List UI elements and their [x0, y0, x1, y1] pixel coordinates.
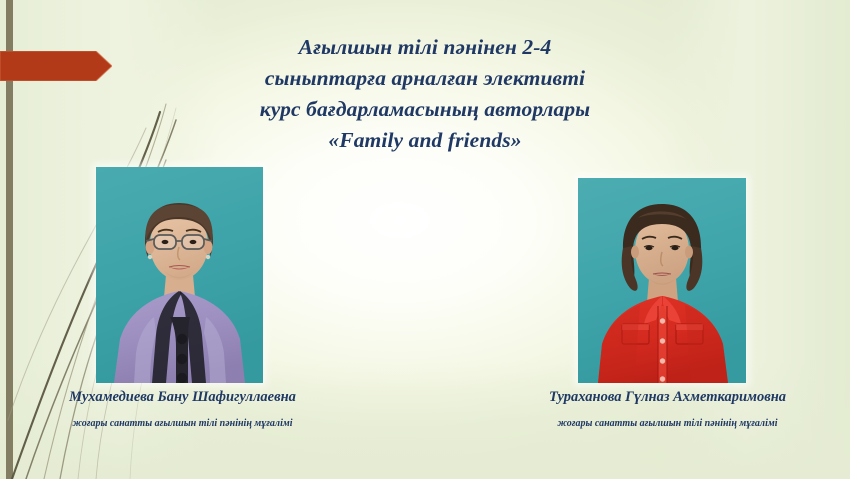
author-name-right: Тураханова Гүлназ Ахметкаримовна	[495, 388, 840, 407]
title-line-1: Ағылшын тілі пәнінен 2-4	[175, 32, 675, 63]
title-line-4: «Family and friends»	[175, 125, 675, 156]
title-line-3: курс бағдарламасының авторлары	[175, 94, 675, 125]
author-photo-right	[578, 178, 746, 383]
author-role-left: жоғары санатты ағылшын тілі пәнінің мұға…	[10, 416, 355, 431]
red-arrow-banner	[0, 51, 112, 81]
author-caption-right: Тураханова Гүлназ Ахметкаримовна жоғары …	[495, 388, 840, 431]
presentation-slide: Ағылшын тілі пәнінен 2-4 сыныптарға арна…	[0, 0, 850, 479]
slide-title: Ағылшын тілі пәнінен 2-4 сыныптарға арна…	[175, 32, 675, 156]
author-caption-left: Мухамедиева Бану Шафигуллаевна жоғары са…	[10, 388, 355, 431]
author-photo-left	[96, 167, 263, 383]
author-role-right: жоғары санатты ағылшын тілі пәнінің мұға…	[495, 416, 840, 431]
title-line-2: сыныптарға арналған элективті	[175, 63, 675, 94]
author-name-left: Мухамедиева Бану Шафигуллаевна	[10, 388, 355, 407]
